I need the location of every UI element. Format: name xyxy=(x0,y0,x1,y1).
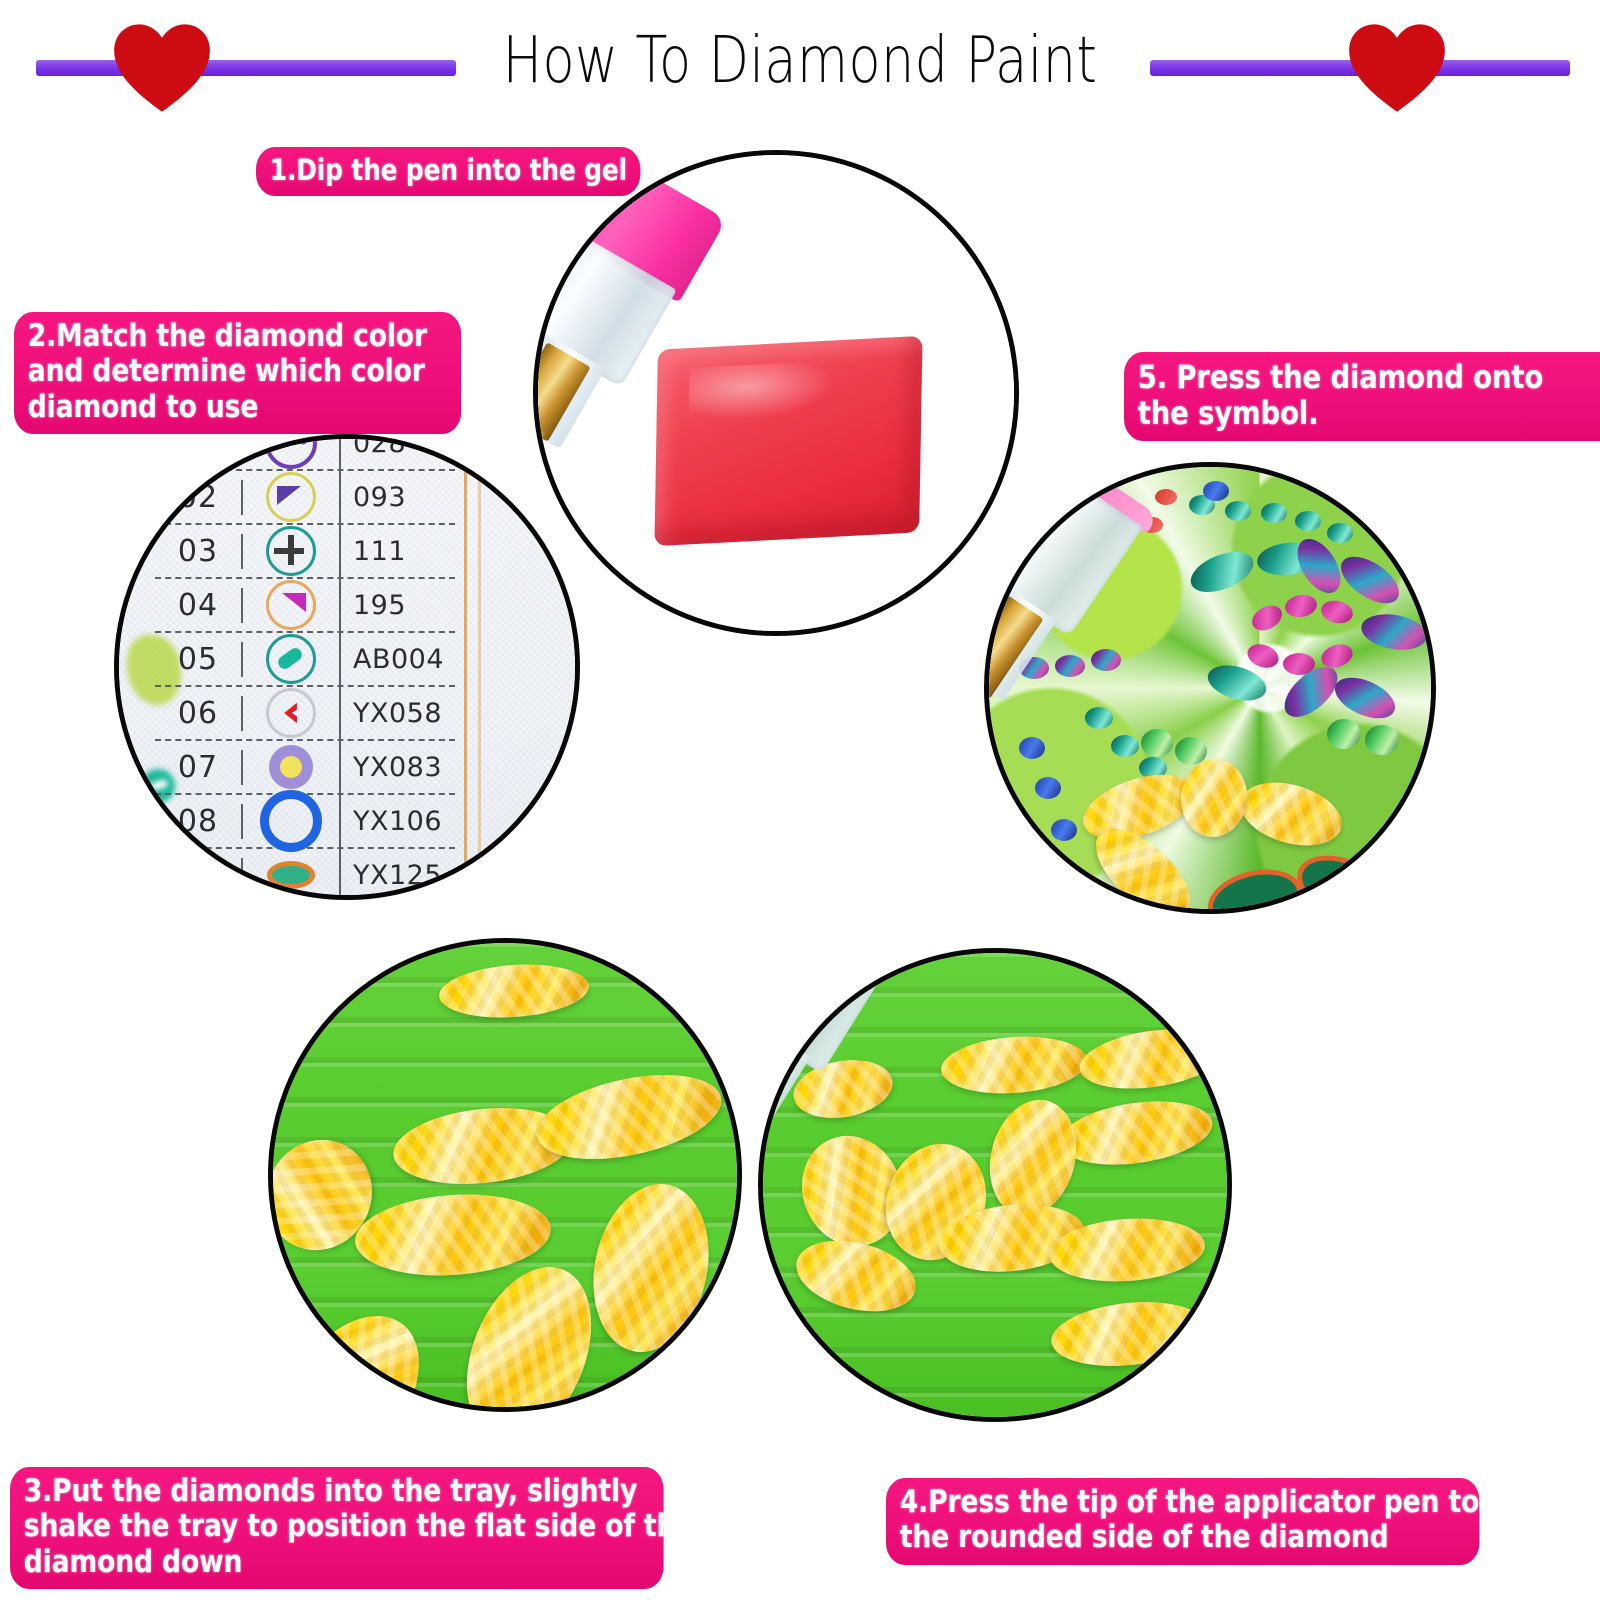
row-symbol xyxy=(243,687,341,739)
step-4-photo-pen-pressing-diamond xyxy=(758,948,1232,1422)
row-code: 093 xyxy=(341,482,455,513)
row-number: 09 xyxy=(155,858,243,893)
step-2-photo-symbol-chart: 01 028 02 xyxy=(114,434,580,900)
step-3-label: 3.Put the diamonds into the tray, slight… xyxy=(10,1467,664,1589)
circle-two-blue-dots-icon xyxy=(265,434,317,469)
printed-dot xyxy=(1295,511,1321,531)
row-number: 01 xyxy=(155,434,243,461)
chevron-red-icon xyxy=(266,688,316,738)
printed-dot xyxy=(1261,503,1287,523)
row-symbol xyxy=(243,525,341,577)
row-symbol xyxy=(243,434,341,469)
orange-border-line-2 xyxy=(478,439,481,895)
step-4-label: 4.Press the tip of the applicator pen to… xyxy=(886,1478,1479,1565)
step-5-label: 5. Press the diamond onto the symbol. xyxy=(1124,352,1600,441)
leaf-teal-orange-icon xyxy=(267,861,315,889)
row-symbol xyxy=(243,633,341,685)
row-code: YX125 xyxy=(341,860,455,891)
row-code: AB004 xyxy=(341,644,455,675)
printed-dot xyxy=(1019,737,1045,759)
printed-dot xyxy=(1225,501,1251,521)
header: How To Diamond Paint xyxy=(0,0,1600,120)
row-symbol xyxy=(243,849,341,900)
step-3-label-line-2: shake the tray to position the flat side… xyxy=(24,1509,650,1544)
symbol-chart-table: 01 028 02 xyxy=(155,434,455,900)
printed-dot xyxy=(1051,819,1077,841)
row-code: 028 xyxy=(341,434,455,459)
table-row: 06 YX058 xyxy=(155,687,455,741)
table-row: 04 195 xyxy=(155,579,455,633)
ring-purple-yellow-center-icon xyxy=(269,745,313,789)
printed-dot xyxy=(1085,707,1113,729)
row-code: YX083 xyxy=(341,752,455,783)
row-symbol xyxy=(243,471,341,523)
step-4-label-line-2: the rounded side of the diamond xyxy=(900,1520,1466,1555)
table-row: 03 111 xyxy=(155,525,455,579)
row-number: 04 xyxy=(155,588,243,623)
triangle-purple-icon xyxy=(266,472,316,522)
placed-gem xyxy=(1365,725,1399,755)
step-5-label-line-1: 5. Press the diamond onto xyxy=(1138,359,1600,395)
printed-dot xyxy=(1327,523,1353,543)
plus-teal-icon xyxy=(266,526,316,576)
row-number: 02 xyxy=(155,480,243,515)
table-row: 07 YX083 xyxy=(155,741,455,795)
row-number: 03 xyxy=(155,534,243,569)
printed-dot xyxy=(1155,489,1177,505)
printed-dot xyxy=(1035,777,1061,799)
step-3-label-line-1: 3.Put the diamonds into the tray, slight… xyxy=(24,1474,650,1509)
placed-gem xyxy=(1141,729,1173,757)
step-2-label-line-1: 2.Match the diamond color xyxy=(28,319,448,354)
row-code: YX058 xyxy=(341,698,455,729)
row-number: 07 xyxy=(155,750,243,785)
step-5-label-line-2: the symbol. xyxy=(1138,395,1600,431)
printed-dot xyxy=(1203,481,1229,501)
printed-dot xyxy=(1091,649,1121,671)
infographic-canvas: How To Diamond Paint 1.Dip the pen into … xyxy=(0,0,1600,1600)
row-number: 05 xyxy=(155,642,243,677)
table-row: 08 YX106 xyxy=(155,795,455,849)
row-code: 195 xyxy=(341,590,455,621)
row-symbol xyxy=(243,579,341,631)
printed-dot xyxy=(1111,735,1139,757)
step-3-label-line-3: diamond down xyxy=(24,1545,650,1580)
rounded-bar-teal-icon xyxy=(266,634,316,684)
step-4-label-line-1: 4.Press the tip of the applicator pen to xyxy=(900,1485,1466,1520)
step-2-label-line-2: and determine which color xyxy=(28,354,448,389)
table-row: 02 093 xyxy=(155,471,455,525)
orange-border-line xyxy=(464,439,467,895)
row-number: 06 xyxy=(155,696,243,731)
page-title: How To Diamond Paint xyxy=(144,24,1456,98)
ring-blue-icon xyxy=(260,790,322,852)
row-symbol xyxy=(243,795,341,847)
row-code: YX106 xyxy=(341,806,455,837)
row-number: 08 xyxy=(155,804,243,839)
triangle-magenta-icon xyxy=(266,580,316,630)
step-3-photo-diamonds-in-tray xyxy=(268,938,742,1412)
step-5-photo-pressing-diamond-onto-symbol xyxy=(984,462,1436,914)
row-symbol xyxy=(243,741,341,793)
row-code: 111 xyxy=(341,536,455,567)
step-2-label: 2.Match the diamond color and determine … xyxy=(14,312,461,434)
step-1-photo-pen-dipping-into-gel xyxy=(533,150,1019,636)
table-row: 09 YX125 xyxy=(155,849,455,900)
pink-gel-pad xyxy=(654,336,922,546)
step-2-label-line-3: diamond to use xyxy=(28,390,448,425)
placed-gem xyxy=(1327,719,1361,749)
table-row: 05 AB004 xyxy=(155,633,455,687)
table-row: 01 028 xyxy=(155,434,455,471)
